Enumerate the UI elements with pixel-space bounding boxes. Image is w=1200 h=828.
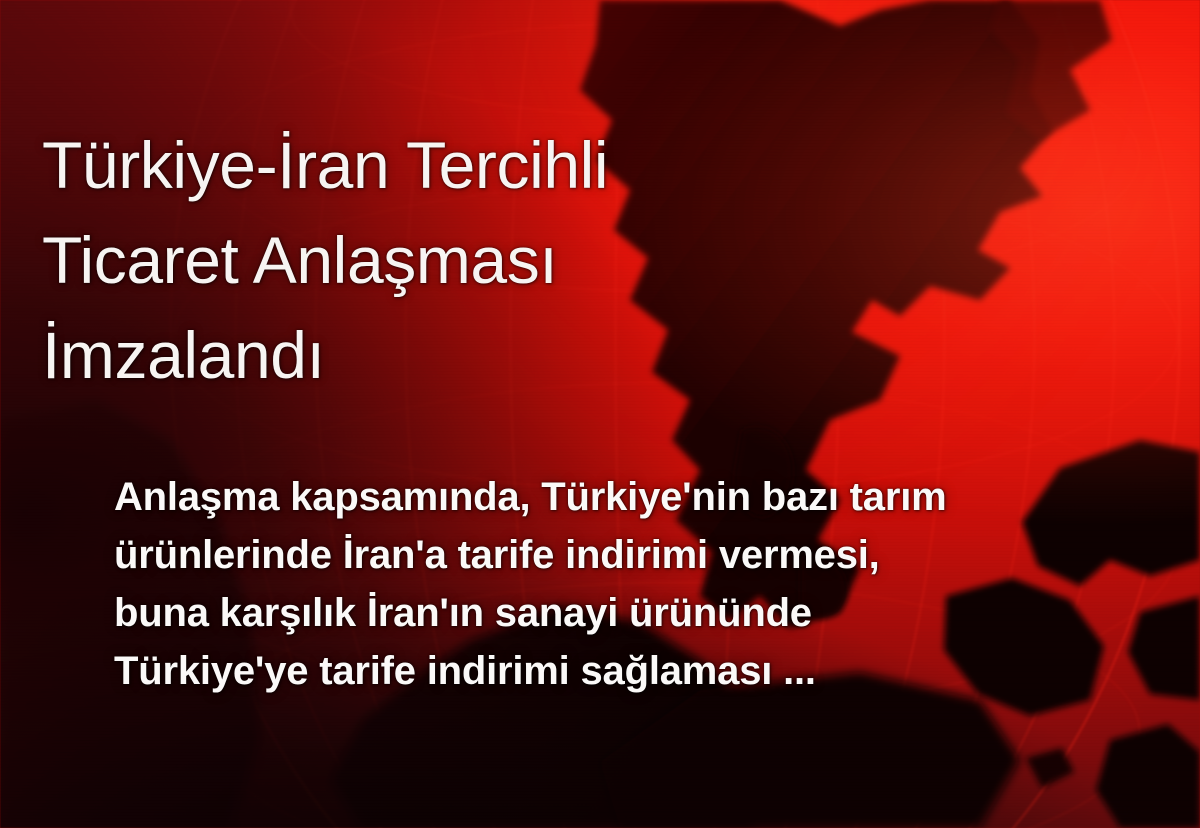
text-overlay: Türkiye-İran Tercihli Ticaret Anlaşması … bbox=[0, 0, 1200, 828]
news-banner: Türkiye-İran Tercihli Ticaret Anlaşması … bbox=[0, 0, 1200, 828]
headline-text: Türkiye-İran Tercihli Ticaret Anlaşması … bbox=[42, 118, 1052, 403]
summary-text: Anlaşma kapsamında, Türkiye'nin bazı tar… bbox=[114, 468, 1114, 700]
